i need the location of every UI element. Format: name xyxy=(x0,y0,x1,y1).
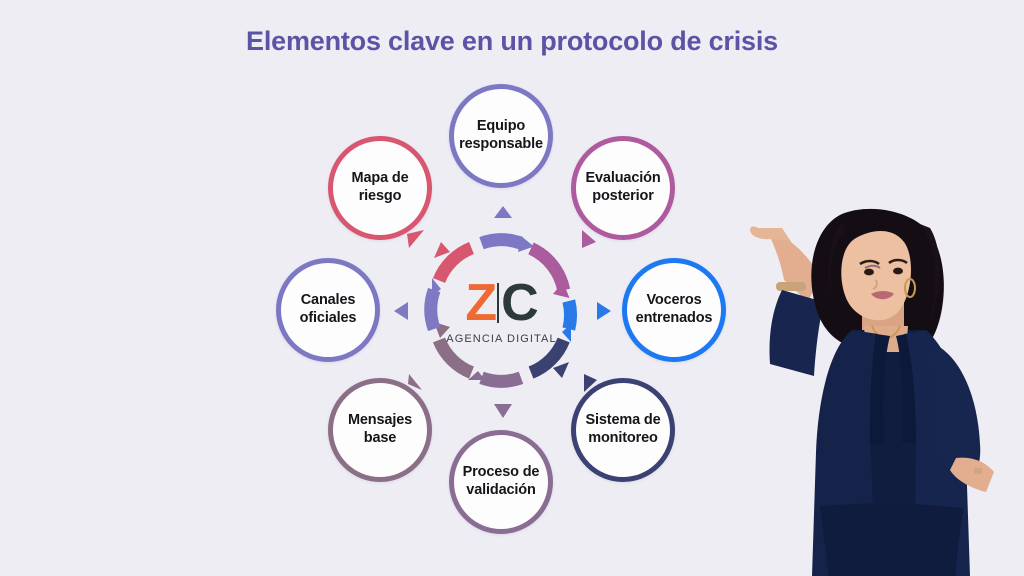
node-label: Proceso devalidación xyxy=(457,464,546,499)
skirt xyxy=(820,502,964,576)
page-title: Elementos clave en un protocolo de crisi… xyxy=(0,26,1024,57)
ring xyxy=(974,468,982,474)
arrow-to-equipo xyxy=(494,206,512,218)
node-label: Evaluaciónposterior xyxy=(579,170,666,205)
arrow-to-evaluacion xyxy=(582,230,596,248)
arrow-to-proceso xyxy=(494,404,512,418)
node-label: Sistema demonitoreo xyxy=(579,412,666,447)
node-evaluacion-posterior[interactable]: Evaluaciónposterior xyxy=(571,136,675,240)
hub-ring-segments xyxy=(431,236,571,381)
center-hub: Z C AGENCIA DIGITAL xyxy=(419,228,584,393)
node-canales-oficiales[interactable]: Canalesoficiales xyxy=(276,258,380,362)
node-label: Vocerosentrenados xyxy=(630,292,719,327)
node-equipo-responsable[interactable]: Equiporesponsable xyxy=(449,84,553,188)
node-label: Canalesoficiales xyxy=(294,292,363,327)
node-label: Mensajesbase xyxy=(342,412,418,447)
node-mapa-de-riesgo[interactable]: Mapa deriesgo xyxy=(328,136,432,240)
node-proceso-de-validacion[interactable]: Proceso devalidación xyxy=(449,430,553,534)
node-label: Equiporesponsable xyxy=(453,118,549,153)
slide-canvas: Elementos clave en un protocolo de crisi… xyxy=(0,0,1024,576)
arrow-to-canales xyxy=(394,302,408,320)
presenter-figure xyxy=(724,206,1024,576)
node-label: Mapa deriesgo xyxy=(346,170,415,205)
node-voceros-entrenados[interactable]: Vocerosentrenados xyxy=(622,258,726,362)
arrow-to-voceros xyxy=(597,302,611,320)
radial-cycle-diagram: Z C AGENCIA DIGITAL Equiporesponsable xyxy=(264,78,744,548)
pointing-hand xyxy=(750,226,820,302)
node-mensajes-base[interactable]: Mensajesbase xyxy=(328,378,432,482)
node-sistema-de-monitoreo[interactable]: Sistema demonitoreo xyxy=(571,378,675,482)
face xyxy=(841,231,911,320)
